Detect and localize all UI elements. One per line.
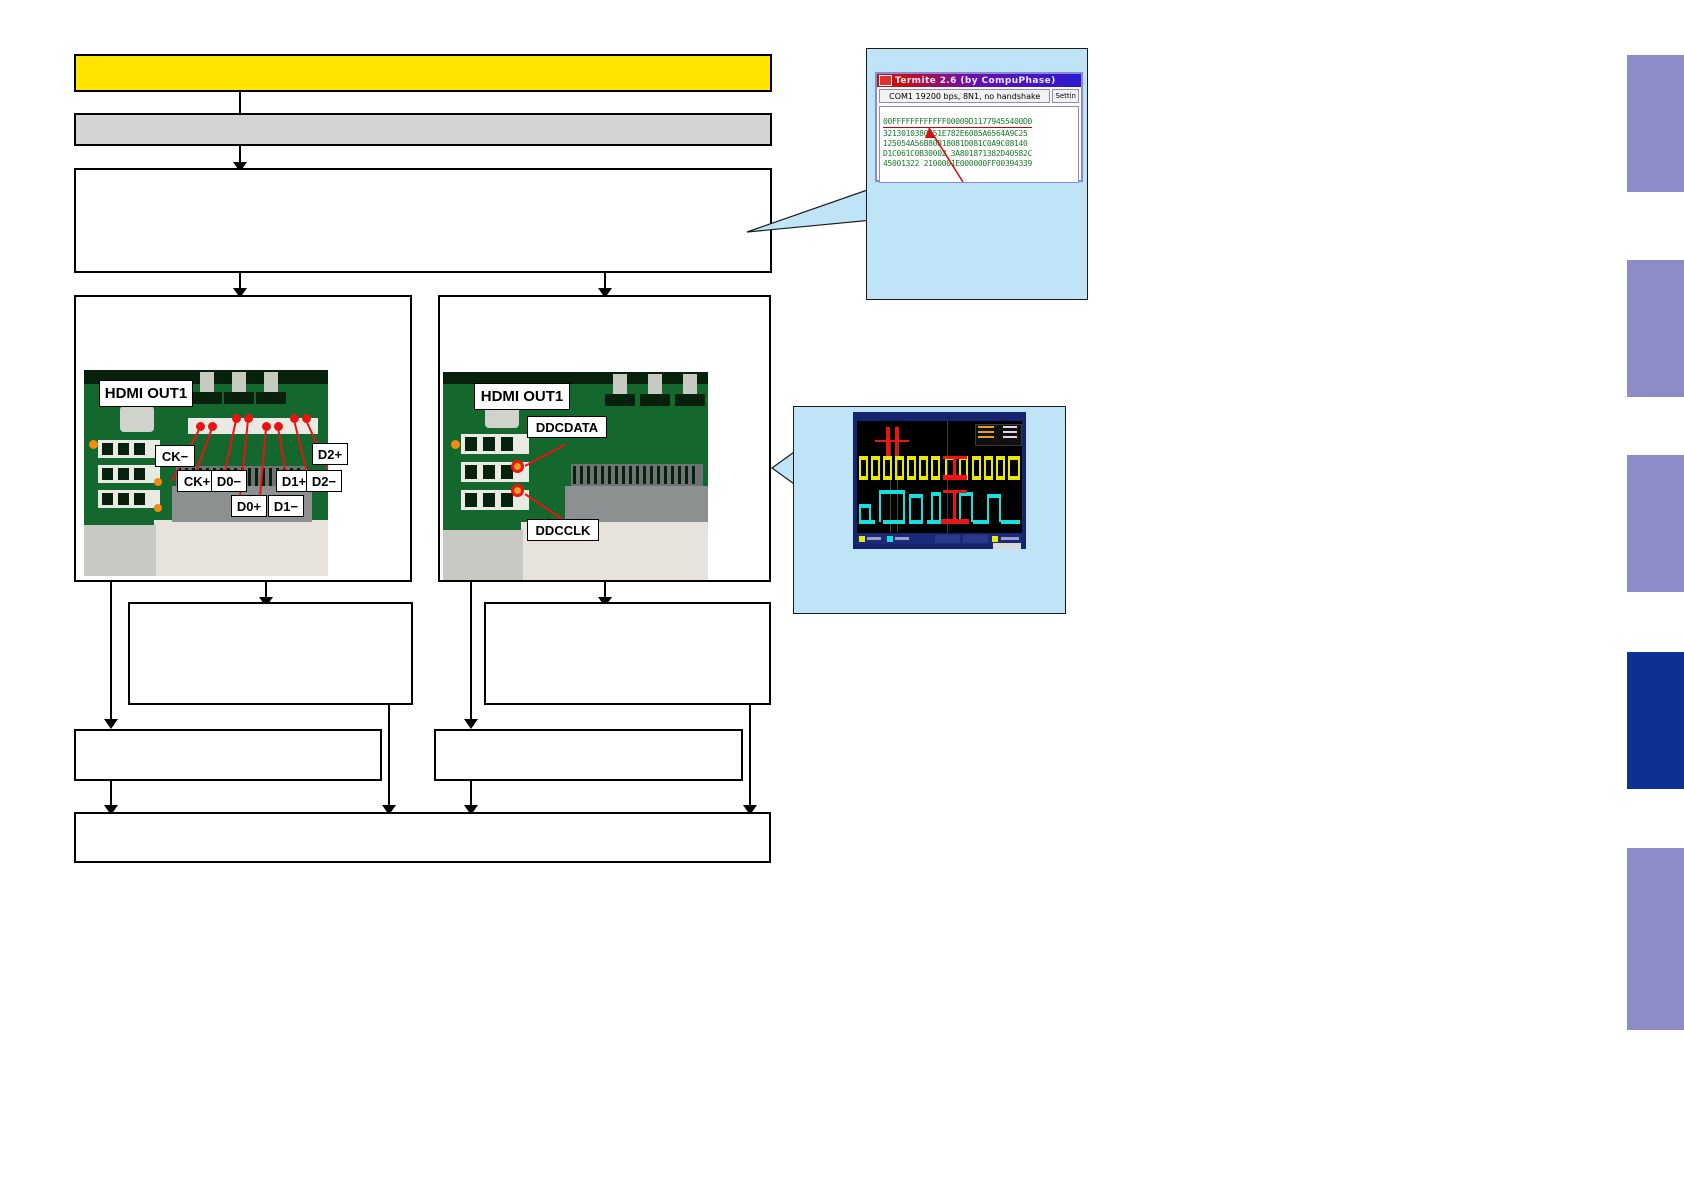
termite-hex-line-4: D1C061C0B30002 3A801871382D40582C — [883, 149, 1075, 159]
probe-label-d2-minus: D2− — [306, 470, 342, 492]
termite-app-icon — [879, 75, 892, 86]
left-panel-title: HDMI OUT1 — [99, 380, 193, 407]
probe-label-d1-minus: D1− — [268, 495, 304, 517]
termite-port-bar: COM1 19200 bps, 8N1, no handshake Settin — [877, 87, 1081, 105]
side-tab-3[interactable] — [1627, 455, 1684, 592]
termite-settings-button[interactable]: Settin — [1052, 89, 1079, 103]
termite-titlebar: Termite 2.6 (by CompuPhase) — [877, 74, 1081, 87]
arrow-right-result-to-end — [749, 705, 751, 813]
termite-title-text: Termite 2.6 (by CompuPhase) — [895, 76, 1056, 86]
flow-node-step2 — [74, 168, 772, 273]
probe-label-ddcdata: DDCDATA — [527, 416, 607, 438]
termite-callout-tail — [745, 180, 875, 250]
termite-window[interactable]: Termite 2.6 (by CompuPhase) COM1 19200 b… — [875, 72, 1083, 182]
flow-node-left-action — [74, 729, 382, 781]
probe-label-ck-minus: CK− — [155, 445, 195, 467]
arrowhead-right-branch-to-right-action — [464, 719, 478, 729]
flow-node-left-result — [128, 602, 413, 705]
flow-node-start — [74, 54, 772, 92]
flow-node-right-action — [434, 729, 743, 781]
termite-hex-line-3: 125054A56B80818081D081C0A9C08140 — [883, 139, 1075, 149]
termite-port-settings[interactable]: COM1 19200 bps, 8N1, no handshake — [879, 89, 1050, 103]
side-tab-5[interactable] — [1627, 848, 1684, 1030]
arrowhead-left-branch-to-left-action — [104, 719, 118, 729]
flow-node-start-label — [76, 56, 770, 64]
right-panel-title: HDMI OUT1 — [474, 383, 570, 410]
termite-hex-line-5: 45001322 2100001E000000FF00394339 — [883, 159, 1075, 169]
flow-node-right-result — [484, 602, 771, 705]
flow-node-end — [74, 812, 771, 863]
probe-label-d0-plus: D0+ — [231, 495, 267, 517]
termite-terminal-output: 00FFFFFFFFFFFF00009D11779455400D0 321301… — [879, 106, 1079, 183]
flow-node-step1 — [74, 113, 772, 146]
termite-hex-line-2: 3213010380351E782E6085A6564A9C25 — [883, 129, 1075, 139]
side-tab-4-active[interactable] — [1627, 652, 1684, 789]
flow-node-step2-label — [76, 170, 770, 178]
probe-label-d2-plus: D2+ — [312, 443, 348, 465]
termite-hex-pointer-arrow — [915, 122, 975, 184]
arrow-right-branch-to-right-action — [470, 582, 472, 727]
probe-label-ddcclk: DDCCLK — [527, 519, 599, 541]
probe-label-d0-minus: D0− — [211, 470, 247, 492]
arrow-left-branch-to-left-action — [110, 582, 112, 727]
oscilloscope-screenshot — [853, 412, 1026, 549]
side-tab-1[interactable] — [1627, 55, 1684, 192]
arrow-left-result-to-end — [388, 705, 390, 813]
side-tab-2[interactable] — [1627, 260, 1684, 397]
flow-node-step1-label — [76, 115, 770, 123]
